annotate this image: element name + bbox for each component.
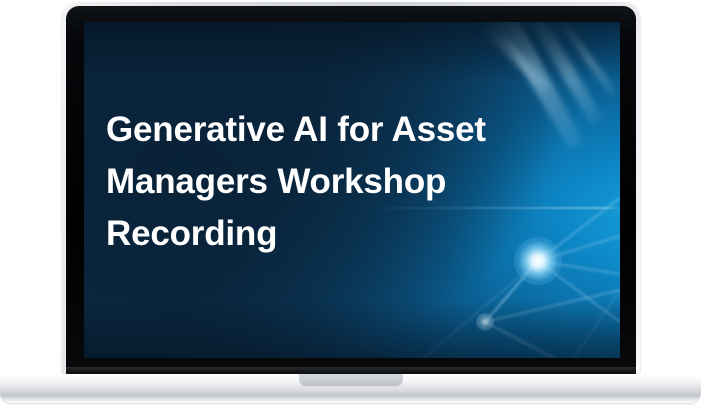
screen-top-shading: [84, 22, 620, 82]
laptop-base-notch: [299, 374, 403, 387]
screen-bottom-shading: [84, 300, 620, 358]
slide-title-line-1: Generative AI for Asset: [106, 104, 546, 156]
slide-title-line-3: Recording: [106, 208, 546, 260]
laptop-mockup-scene: Generative AI for Asset Managers Worksho…: [0, 0, 701, 405]
laptop-screen: Generative AI for Asset Managers Worksho…: [84, 22, 620, 358]
slide-title: Generative AI for Asset Managers Worksho…: [106, 104, 546, 260]
slide-title-line-2: Managers Workshop: [106, 156, 546, 208]
